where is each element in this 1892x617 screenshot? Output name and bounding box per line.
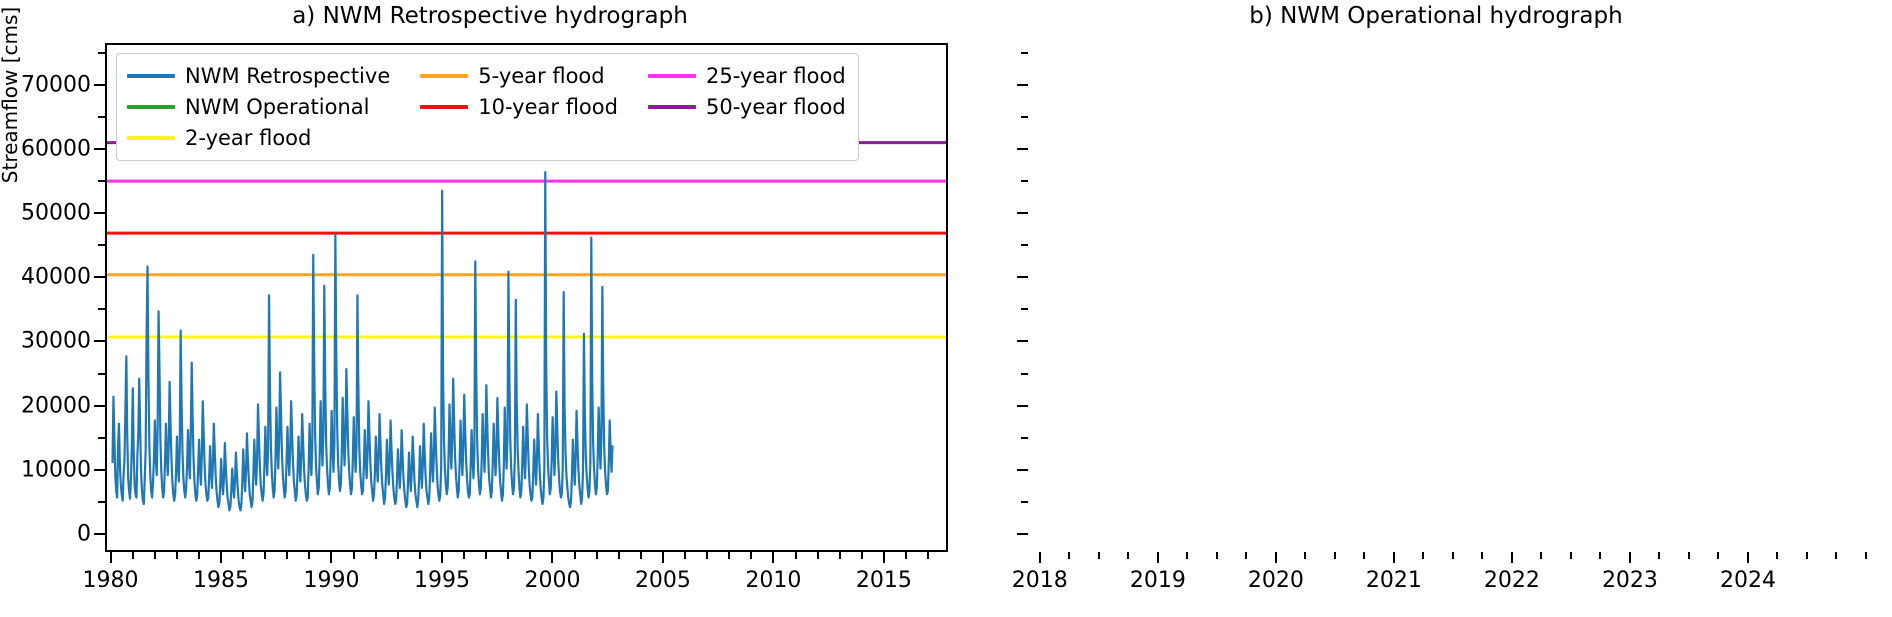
x-tick-mark bbox=[1511, 552, 1513, 563]
legend-swatch-icon bbox=[127, 74, 175, 78]
legend-swatch-icon bbox=[127, 136, 175, 140]
x-tick-mark-minor bbox=[1599, 552, 1601, 559]
x-tick-mark-minor bbox=[728, 552, 730, 559]
figure-root: a) NWM Retrospective hydrograph Streamfl… bbox=[0, 0, 1892, 617]
x-tick-mark bbox=[772, 552, 774, 563]
legend: NWM Retrospective5-year flood25-year flo… bbox=[116, 53, 859, 161]
y-tick-mark bbox=[1017, 148, 1028, 150]
y-tick-mark bbox=[94, 469, 105, 471]
x-tick-mark-minor bbox=[817, 552, 819, 559]
x-tick-label: 2024 bbox=[1720, 568, 1776, 593]
x-tick-mark-minor bbox=[839, 552, 841, 559]
y-tick-label: 30000 bbox=[0, 329, 91, 354]
x-tick-mark-minor bbox=[1304, 552, 1306, 559]
y-tick-mark bbox=[94, 212, 105, 214]
legend-entry-50-year-flood: 50-year flood bbox=[648, 92, 846, 122]
y-tick-mark-minor bbox=[98, 437, 105, 439]
x-tick-mark bbox=[1747, 552, 1749, 563]
x-tick-label: 2000 bbox=[524, 568, 580, 593]
y-tick-mark-minor bbox=[1021, 373, 1028, 375]
legend-entry-25-year-flood: 25-year flood bbox=[648, 61, 846, 91]
plot-area-a: NWM Retrospective5-year flood25-year flo… bbox=[105, 43, 948, 552]
x-tick-mark-minor bbox=[684, 552, 686, 559]
x-tick-mark-minor bbox=[242, 552, 244, 559]
series-line-nwm-retrospective bbox=[113, 172, 613, 510]
x-tick-mark-minor bbox=[1717, 552, 1719, 559]
legend-swatch-icon bbox=[127, 105, 175, 109]
y-tick-label: 40000 bbox=[0, 265, 91, 290]
y-tick-mark-minor bbox=[1021, 308, 1028, 310]
y-tick-label: 60000 bbox=[0, 136, 91, 161]
x-tick-mark-minor bbox=[596, 552, 598, 559]
y-tick-mark-minor bbox=[1021, 437, 1028, 439]
y-tick-mark-minor bbox=[1021, 244, 1028, 246]
y-tick-mark-minor bbox=[98, 52, 105, 54]
x-tick-mark-minor bbox=[463, 552, 465, 559]
x-tick-label: 2005 bbox=[635, 568, 691, 593]
panel-b-title: b) NWM Operational hydrograph bbox=[980, 3, 1892, 29]
y-tick-mark-minor bbox=[98, 308, 105, 310]
legend-entry-nwm-retrospective: NWM Retrospective bbox=[127, 61, 390, 91]
y-tick-mark bbox=[1017, 533, 1028, 535]
legend-swatch-icon bbox=[648, 74, 696, 78]
x-tick-label: 2018 bbox=[1012, 568, 1068, 593]
y-tick-mark bbox=[94, 84, 105, 86]
legend-swatch-icon bbox=[648, 105, 696, 109]
y-tick-label: 0 bbox=[0, 522, 91, 547]
x-tick-label: 1980 bbox=[83, 568, 139, 593]
x-tick-mark-minor bbox=[1186, 552, 1188, 559]
x-tick-mark-minor bbox=[1806, 552, 1808, 559]
x-tick-mark bbox=[1275, 552, 1277, 563]
y-tick-mark bbox=[1017, 469, 1028, 471]
x-tick-mark-minor bbox=[861, 552, 863, 559]
x-tick-mark-minor bbox=[1068, 552, 1070, 559]
y-tick-label: 70000 bbox=[0, 72, 91, 97]
y-tick-label: 50000 bbox=[0, 201, 91, 226]
x-tick-mark-minor bbox=[618, 552, 620, 559]
x-tick-mark bbox=[110, 552, 112, 563]
x-tick-mark-minor bbox=[308, 552, 310, 559]
y-tick-mark bbox=[94, 148, 105, 150]
x-tick-mark-minor bbox=[1658, 552, 1660, 559]
y-tick-mark bbox=[94, 276, 105, 278]
x-tick-mark-minor bbox=[507, 552, 509, 559]
x-tick-mark-minor bbox=[795, 552, 797, 559]
x-tick-mark-minor bbox=[1334, 552, 1336, 559]
x-tick-mark-minor bbox=[198, 552, 200, 559]
y-tick-mark bbox=[94, 405, 105, 407]
x-tick-mark bbox=[662, 552, 664, 563]
x-tick-mark-minor bbox=[353, 552, 355, 559]
x-tick-mark-minor bbox=[176, 552, 178, 559]
y-tick-mark-minor bbox=[1021, 180, 1028, 182]
y-tick-mark-minor bbox=[98, 180, 105, 182]
y-tick-mark-minor bbox=[98, 116, 105, 118]
legend-label: 2-year flood bbox=[185, 123, 311, 153]
x-tick-mark-minor bbox=[1835, 552, 1837, 559]
y-tick-mark-minor bbox=[1021, 501, 1028, 503]
y-tick-mark-minor bbox=[98, 501, 105, 503]
legend-entry-empty bbox=[420, 136, 618, 140]
legend-entry-5-year-flood: 5-year flood bbox=[420, 61, 618, 91]
x-tick-mark-minor bbox=[485, 552, 487, 559]
legend-swatch-icon bbox=[420, 74, 468, 78]
legend-swatch-icon bbox=[420, 105, 468, 109]
x-tick-mark bbox=[1039, 552, 1041, 563]
x-tick-mark-minor bbox=[1216, 552, 1218, 559]
x-tick-label: 2022 bbox=[1484, 568, 1540, 593]
x-tick-mark bbox=[1393, 552, 1395, 563]
x-tick-mark-minor bbox=[1098, 552, 1100, 559]
y-tick-mark-minor bbox=[1021, 52, 1028, 54]
x-tick-mark-minor bbox=[286, 552, 288, 559]
x-tick-mark-minor bbox=[706, 552, 708, 559]
y-axis-label: Streamflow [cms] bbox=[0, 0, 22, 215]
x-tick-mark-minor bbox=[529, 552, 531, 559]
x-tick-mark-minor bbox=[574, 552, 576, 559]
x-tick-mark bbox=[1157, 552, 1159, 563]
x-tick-mark-minor bbox=[375, 552, 377, 559]
x-tick-mark-minor bbox=[1865, 552, 1867, 559]
x-tick-mark-minor bbox=[1540, 552, 1542, 559]
x-tick-mark-minor bbox=[264, 552, 266, 559]
legend-label: NWM Operational bbox=[185, 92, 369, 122]
y-tick-mark bbox=[94, 533, 105, 535]
legend-grid: NWM Retrospective5-year flood25-year flo… bbox=[127, 61, 846, 153]
y-tick-mark-minor bbox=[98, 244, 105, 246]
panel-a-title: a) NWM Retrospective hydrograph bbox=[0, 3, 980, 29]
legend-label: 25-year flood bbox=[706, 61, 846, 91]
x-tick-label: 2019 bbox=[1130, 568, 1186, 593]
legend-label: 50-year flood bbox=[706, 92, 846, 122]
x-tick-mark bbox=[551, 552, 553, 563]
y-tick-mark bbox=[1017, 405, 1028, 407]
x-tick-mark-minor bbox=[132, 552, 134, 559]
x-tick-mark-minor bbox=[1452, 552, 1454, 559]
x-tick-label: 1990 bbox=[303, 568, 359, 593]
x-tick-label: 1985 bbox=[193, 568, 249, 593]
x-tick-label: 2015 bbox=[856, 568, 912, 593]
legend-entry-empty bbox=[648, 136, 846, 140]
x-tick-mark-minor bbox=[750, 552, 752, 559]
legend-label: 5-year flood bbox=[478, 61, 604, 91]
x-tick-mark-minor bbox=[1422, 552, 1424, 559]
x-tick-mark-minor bbox=[640, 552, 642, 559]
y-tick-mark bbox=[1017, 340, 1028, 342]
y-tick-mark-minor bbox=[98, 373, 105, 375]
x-tick-mark-minor bbox=[419, 552, 421, 559]
x-tick-mark-minor bbox=[1570, 552, 1572, 559]
x-tick-mark bbox=[1629, 552, 1631, 563]
x-tick-mark bbox=[883, 552, 885, 563]
y-tick-label: 10000 bbox=[0, 457, 91, 482]
x-tick-mark bbox=[220, 552, 222, 563]
legend-label: NWM Retrospective bbox=[185, 61, 390, 91]
x-tick-mark bbox=[330, 552, 332, 563]
y-tick-mark bbox=[1017, 276, 1028, 278]
x-tick-mark-minor bbox=[1363, 552, 1365, 559]
x-tick-label: 2021 bbox=[1366, 568, 1422, 593]
legend-entry-2-year-flood: 2-year flood bbox=[127, 123, 390, 153]
x-tick-mark-minor bbox=[1245, 552, 1247, 559]
x-tick-mark-minor bbox=[397, 552, 399, 559]
y-tick-mark bbox=[1017, 84, 1028, 86]
y-tick-label: 20000 bbox=[0, 393, 91, 418]
legend-entry-nwm-operational: NWM Operational bbox=[127, 92, 390, 122]
legend-label: 10-year flood bbox=[478, 92, 618, 122]
x-tick-label: 1995 bbox=[414, 568, 470, 593]
x-tick-mark-minor bbox=[154, 552, 156, 559]
x-tick-mark bbox=[441, 552, 443, 563]
legend-entry-10-year-flood: 10-year flood bbox=[420, 92, 618, 122]
panel-b: b) NWM Operational hydrograph 2018201920… bbox=[980, 0, 1892, 617]
x-tick-mark-minor bbox=[1127, 552, 1129, 559]
x-tick-label: 2023 bbox=[1602, 568, 1658, 593]
x-tick-mark-minor bbox=[927, 552, 929, 559]
x-tick-mark-minor bbox=[1776, 552, 1778, 559]
x-tick-mark-minor bbox=[1688, 552, 1690, 559]
x-tick-mark-minor bbox=[1481, 552, 1483, 559]
x-tick-label: 2020 bbox=[1248, 568, 1304, 593]
y-tick-mark bbox=[94, 340, 105, 342]
y-tick-mark-minor bbox=[1021, 116, 1028, 118]
x-tick-label: 2010 bbox=[745, 568, 801, 593]
y-tick-mark bbox=[1017, 212, 1028, 214]
panel-a: a) NWM Retrospective hydrograph Streamfl… bbox=[0, 0, 980, 617]
x-tick-mark-minor bbox=[905, 552, 907, 559]
